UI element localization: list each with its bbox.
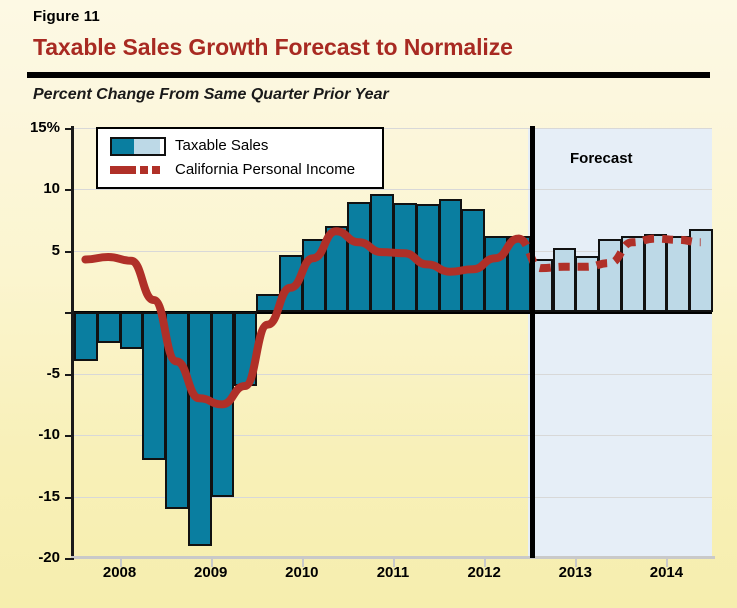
x-axis-label: 2014 [636, 564, 696, 581]
y-axis-label: -15 [4, 488, 60, 505]
bar-2014Q2 [644, 234, 668, 313]
y-axis-label: -10 [4, 426, 60, 443]
bar-2010Q2 [279, 255, 303, 313]
bar-2009Q2 [188, 312, 212, 545]
bar-2013Q3 [575, 256, 599, 313]
legend-label-taxable-sales: Taxable Sales [175, 137, 268, 154]
bar-2013Q4 [598, 239, 622, 313]
bar-2012Q2 [461, 209, 485, 312]
forecast-band [528, 128, 712, 558]
bar-2009Q4 [234, 312, 258, 386]
x-axis-label: 2009 [181, 564, 241, 581]
x-axis-label: 2013 [545, 564, 605, 581]
figure-subtitle: Percent Change From Same Quarter Prior Y… [33, 86, 389, 104]
gridline [74, 189, 712, 190]
bar-2014Q3 [666, 236, 690, 312]
bar-2012Q3 [484, 236, 508, 312]
bar-2014Q1 [621, 236, 645, 312]
y-tick [65, 558, 74, 560]
bar-2011Q3 [393, 203, 417, 312]
y-tick [65, 374, 74, 376]
bar-2013Q2 [553, 248, 577, 312]
bar-2008Q1 [74, 312, 98, 361]
bar-2012Q4 [507, 236, 531, 312]
bar-2009Q1 [165, 312, 189, 509]
plot-area [74, 128, 712, 558]
bar-2010Q3 [302, 239, 326, 313]
y-tick [65, 251, 74, 253]
bar-2011Q4 [416, 204, 440, 312]
title-rule [27, 72, 710, 78]
figure-title: Taxable Sales Growth Forecast to Normali… [33, 34, 513, 61]
bar-2014Q4 [689, 229, 713, 313]
forecast-label: Forecast [570, 150, 633, 167]
y-tick [65, 435, 74, 437]
legend-swatch-line [110, 166, 166, 174]
legend-label-personal-income: California Personal Income [175, 161, 355, 178]
bar-2009Q3 [211, 312, 235, 496]
forecast-divider [530, 126, 535, 558]
y-tick [65, 312, 74, 314]
bar-2008Q4 [142, 312, 166, 459]
legend-swatch-forecast [134, 139, 160, 154]
y-tick [65, 128, 74, 130]
legend-item-personal-income: California Personal Income [110, 161, 355, 179]
bar-2011Q1 [347, 202, 371, 313]
bar-2012Q1 [439, 199, 463, 312]
chart-legend: Taxable Sales California Personal Income [96, 127, 384, 189]
figure-number: Figure 11 [33, 8, 100, 25]
y-tick [65, 189, 74, 191]
x-axis-label: 2008 [90, 564, 150, 581]
bar-2008Q2 [97, 312, 121, 343]
y-axis-label: 10 [4, 180, 60, 197]
y-axis-label: -5 [4, 365, 60, 382]
x-axis-label: 2012 [454, 564, 514, 581]
bar-2008Q3 [120, 312, 144, 349]
y-axis-label: 5 [4, 242, 60, 259]
y-axis-label: 15% [4, 119, 60, 136]
bar-2010Q1 [256, 294, 280, 312]
bar-2010Q4 [325, 226, 349, 312]
x-axis-label: 2010 [272, 564, 332, 581]
y-tick [65, 497, 74, 499]
bar-2011Q2 [370, 194, 394, 312]
x-axis-label: 2011 [363, 564, 423, 581]
y-axis-label: -20 [4, 549, 60, 566]
legend-item-taxable-sales: Taxable Sales [110, 137, 268, 156]
legend-swatch-bar [110, 137, 166, 156]
figure-container: Figure 11 Taxable Sales Growth Forecast … [0, 0, 737, 608]
